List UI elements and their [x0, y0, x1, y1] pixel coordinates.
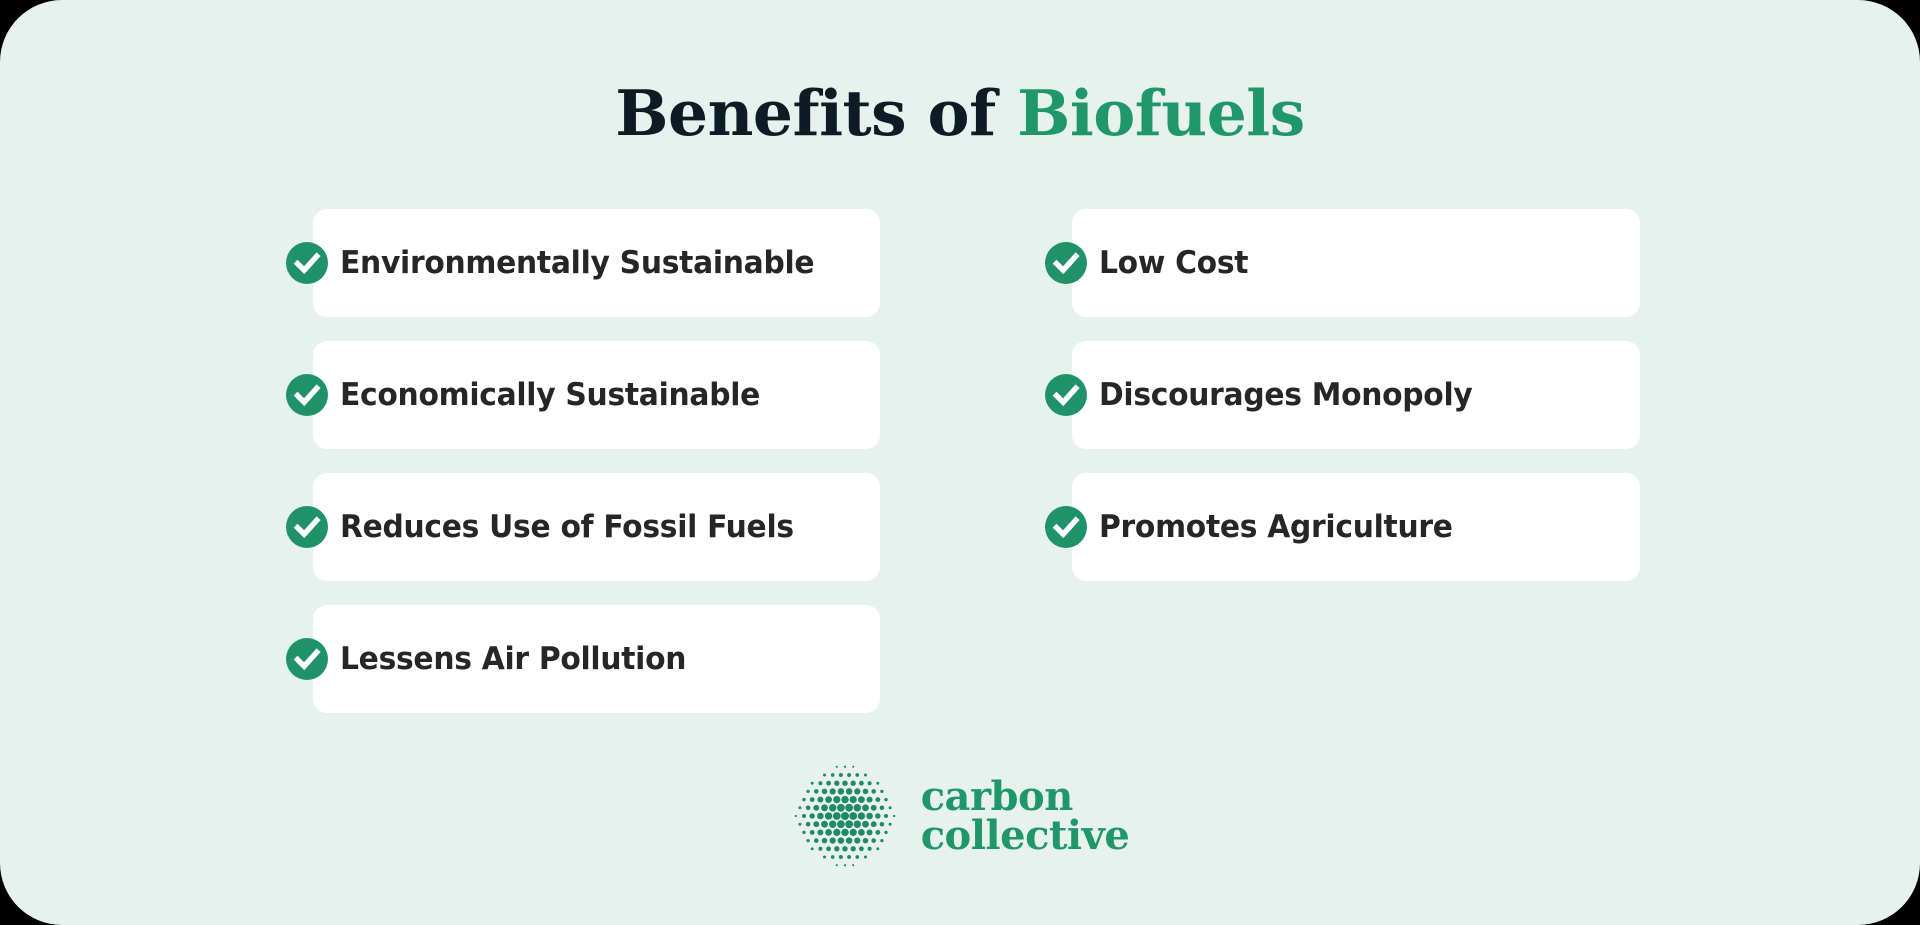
benefit-card[interactable]: Discourages Monopoly	[1072, 341, 1640, 449]
page-title: Benefits of Biofuels	[0, 82, 1920, 145]
infographic-root: Benefits of Biofuels Environmentally Sus…	[0, 0, 1920, 925]
brand-line-1: carbon	[921, 777, 1130, 816]
benefit-card[interactable]: Low Cost	[1072, 209, 1640, 317]
check-circle-icon	[286, 374, 328, 416]
brand-logo: carbon collective	[0, 762, 1920, 870]
benefit-label: Environmentally Sustainable	[340, 245, 814, 281]
benefits-grid: Environmentally Sustainable Economically…	[0, 209, 1920, 709]
benefit-label: Economically Sustainable	[340, 377, 760, 413]
carbon-collective-dot-sphere-icon	[791, 762, 899, 870]
brand-line-2: collective	[921, 816, 1130, 855]
benefit-label: Lessens Air Pollution	[340, 641, 686, 677]
benefit-label: Discourages Monopoly	[1099, 377, 1473, 413]
check-circle-icon	[1045, 242, 1087, 284]
page-title-highlight: Biofuels	[1017, 76, 1305, 150]
benefit-card[interactable]: Environmentally Sustainable	[313, 209, 880, 317]
check-circle-icon	[286, 506, 328, 548]
benefit-label: Low Cost	[1099, 245, 1248, 281]
check-circle-icon	[286, 242, 328, 284]
page-title-primary: Benefits of	[615, 76, 1017, 150]
benefit-card[interactable]: Economically Sustainable	[313, 341, 880, 449]
benefits-column-left: Environmentally Sustainable Economically…	[313, 209, 880, 737]
benefit-label: Promotes Agriculture	[1099, 509, 1453, 545]
benefits-column-right: Low Cost Discourages Monopoly	[1072, 209, 1640, 605]
benefit-label: Reduces Use of Fossil Fuels	[340, 509, 794, 545]
check-circle-icon	[286, 638, 328, 680]
check-circle-icon	[1045, 506, 1087, 548]
benefit-card[interactable]: Lessens Air Pollution	[313, 605, 880, 713]
benefit-card[interactable]: Promotes Agriculture	[1072, 473, 1640, 581]
benefit-card[interactable]: Reduces Use of Fossil Fuels	[313, 473, 880, 581]
brand-wordmark: carbon collective	[921, 777, 1130, 855]
check-circle-icon	[1045, 374, 1087, 416]
